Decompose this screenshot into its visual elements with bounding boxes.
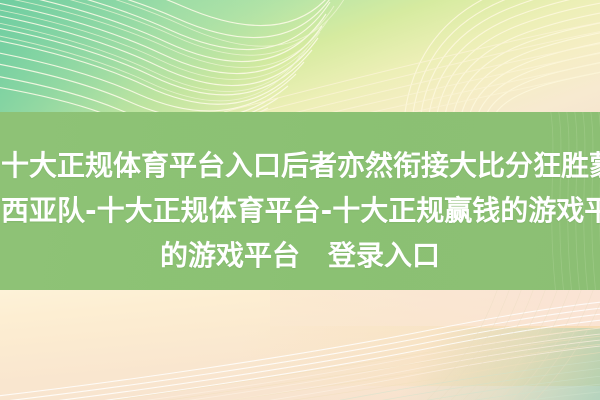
banner-image: 十大正规体育平台入口后者亦然衔接大比分狂胜蒙古 西亚队-十大正规体育平台-十大正… [0, 0, 600, 400]
title-line-3: 的游戏平台 登录入口 [0, 233, 600, 278]
top-right-arcs-decoration [0, 0, 600, 113]
title-text-block: 十大正规体育平台入口后者亦然衔接大比分狂胜蒙古 西亚队-十大正规体育平台-十大正… [0, 112, 600, 278]
top-decorative-band [0, 0, 600, 113]
bottom-wave-lines-decoration [0, 290, 600, 400]
title-line-2: 西亚队-十大正规体育平台-十大正规赢钱的游戏平台 [0, 188, 600, 233]
green-title-band: 十大正规体育平台入口后者亦然衔接大比分狂胜蒙古 西亚队-十大正规体育平台-十大正… [0, 112, 600, 290]
title-line-1: 十大正规体育平台入口后者亦然衔接大比分狂胜蒙古 [0, 143, 600, 188]
bottom-decorative-band [0, 290, 600, 400]
